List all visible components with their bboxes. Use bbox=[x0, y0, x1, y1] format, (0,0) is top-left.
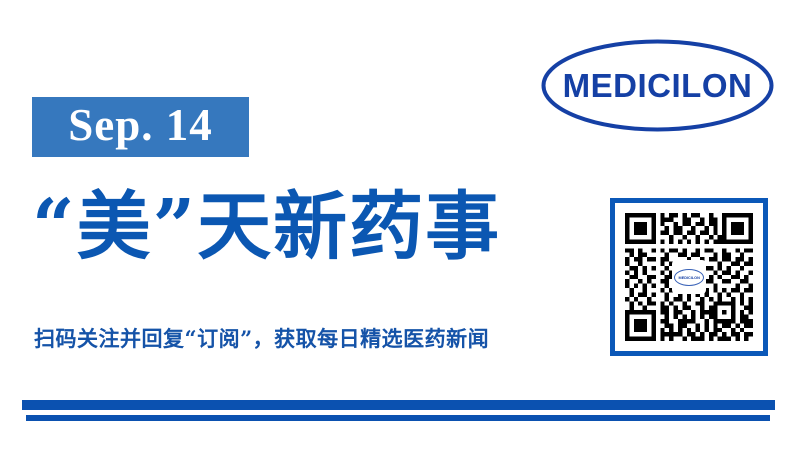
logo-wordmark: MEDICILON bbox=[563, 67, 753, 104]
date-badge-label: Sep. 14 bbox=[68, 103, 213, 152]
qr-center-logo-text: MEDICILON bbox=[678, 275, 699, 280]
divider-thick bbox=[22, 400, 775, 410]
qr-code-icon[interactable]: MEDICILON bbox=[625, 213, 753, 341]
divider-thin bbox=[26, 415, 770, 421]
newsletter-banner: Sep. 14 MEDICILON “美”天新药事 扫码关注并回复“订阅”，获取… bbox=[0, 0, 800, 468]
qr-center-logo: MEDICILON bbox=[672, 260, 706, 294]
headline: “美”天新药事 bbox=[32, 186, 592, 269]
subtitle: 扫码关注并回复“订阅”，获取每日精选医药新闻 bbox=[34, 326, 594, 351]
brand-logo: MEDICILON bbox=[540, 38, 775, 133]
date-badge: Sep. 14 bbox=[32, 97, 249, 157]
qr-code-frame[interactable]: MEDICILON bbox=[610, 198, 768, 356]
ellipse-logo-icon: MEDICILON bbox=[540, 38, 775, 133]
qr-center-logo-ellipse: MEDICILON bbox=[674, 269, 704, 286]
